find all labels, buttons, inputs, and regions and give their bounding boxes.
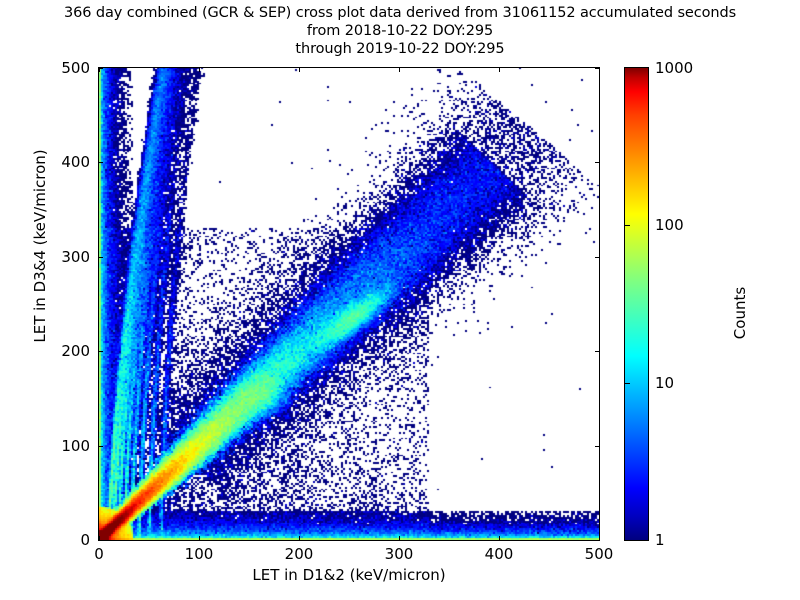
y-tick-label: 400 xyxy=(61,153,90,171)
heatmap-canvas xyxy=(99,68,599,540)
x-tick xyxy=(399,68,400,72)
x-tick xyxy=(199,536,200,540)
y-tick-label: 0 xyxy=(80,531,90,549)
plot-area[interactable] xyxy=(98,67,600,541)
y-tick xyxy=(99,351,103,352)
y-tick xyxy=(99,540,103,541)
x-tick xyxy=(599,68,600,72)
y-tick xyxy=(595,257,599,258)
x-axis-label: LET in D1&2 (keV/micron) xyxy=(98,566,600,584)
x-tick xyxy=(299,68,300,72)
x-tick-label: 0 xyxy=(94,545,104,563)
y-tick xyxy=(99,257,103,258)
y-tick xyxy=(99,68,103,69)
colorbar-tick-label: 10 xyxy=(655,374,674,392)
y-tick xyxy=(99,446,103,447)
x-tick-label: 200 xyxy=(285,545,314,563)
y-tick-label: 300 xyxy=(61,248,90,266)
y-tick xyxy=(595,446,599,447)
title-line-2: from 2018-10-22 DOY:295 xyxy=(0,22,800,40)
x-tick xyxy=(599,536,600,540)
colorbar-tick xyxy=(625,225,630,226)
y-tick xyxy=(595,540,599,541)
y-axis-label: LET in D3&4 (keV/micron) xyxy=(31,96,49,396)
title-line-3: through 2019-10-22 DOY:295 xyxy=(0,40,800,58)
colorbar-tick-label: 1000 xyxy=(655,59,693,77)
chart-title: 366 day combined (GCR & SEP) cross plot … xyxy=(0,4,800,58)
y-tick-label: 500 xyxy=(61,59,90,77)
title-line-1: 366 day combined (GCR & SEP) cross plot … xyxy=(0,4,800,22)
x-tick-label: 500 xyxy=(585,545,614,563)
x-tick-label: 300 xyxy=(385,545,414,563)
colorbar-label: Counts xyxy=(731,163,749,463)
y-tick xyxy=(595,68,599,69)
x-tick xyxy=(499,68,500,72)
x-tick xyxy=(199,68,200,72)
y-tick xyxy=(99,162,103,163)
x-tick-label: 100 xyxy=(185,545,214,563)
x-tick xyxy=(399,536,400,540)
x-tick-label: 400 xyxy=(485,545,514,563)
x-tick xyxy=(299,536,300,540)
y-tick xyxy=(595,351,599,352)
colorbar-tick-label: 1 xyxy=(655,531,665,549)
colorbar[interactable] xyxy=(624,67,649,541)
colorbar-tick xyxy=(625,383,630,384)
x-tick xyxy=(499,536,500,540)
colorbar-tick-label: 100 xyxy=(655,216,684,234)
y-tick-label: 100 xyxy=(61,437,90,455)
figure: 366 day combined (GCR & SEP) cross plot … xyxy=(0,0,800,600)
y-tick xyxy=(595,162,599,163)
y-tick-label: 200 xyxy=(61,342,90,360)
